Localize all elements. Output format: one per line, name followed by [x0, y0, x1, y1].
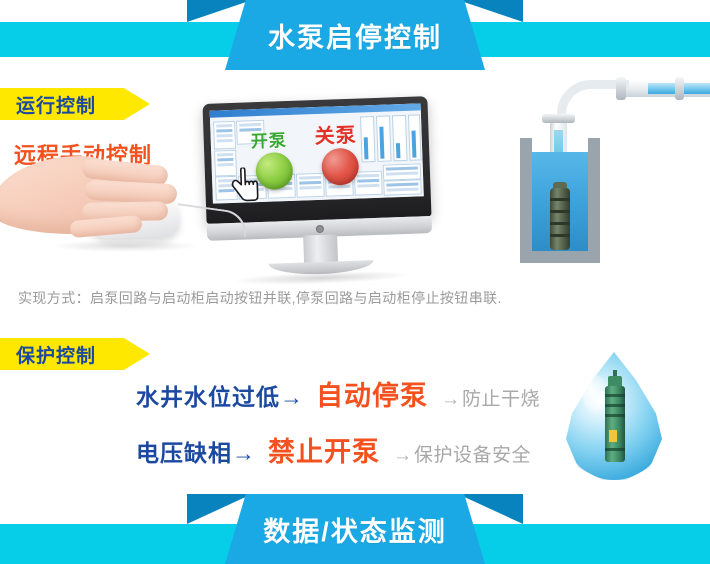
well-wall-left: [520, 138, 532, 263]
bottom-banner: 数据/状态监测: [0, 494, 710, 564]
rule-action: 禁止开泵: [268, 430, 380, 469]
rule-arrow-icon: →: [280, 384, 303, 411]
stop-pump-label: 关泵: [314, 119, 357, 149]
pipe-flange: [675, 77, 684, 100]
pump-ring: [605, 414, 625, 417]
hand-shadow: [50, 240, 200, 252]
top-banner-title: 水泵启停控制: [225, 0, 485, 70]
well-shaft: [520, 138, 600, 263]
pump-ring: [605, 448, 625, 451]
well-wall-bottom: [520, 251, 600, 263]
monitor-bezel: 开泵 关泵: [202, 96, 431, 224]
water-drop-illustration: [556, 348, 676, 488]
monitor-shadow: [231, 269, 411, 287]
scada-gauge: [376, 115, 392, 161]
well-pump-illustration: [500, 72, 700, 277]
protection-rule-row: 水井水位过低 → 自动停泵 → 防止干烧: [136, 374, 540, 413]
rule-arrow-icon: →: [393, 445, 412, 467]
rule-condition: 水井水位过低: [136, 378, 280, 412]
pump-nameplate: [609, 430, 617, 442]
submersible-pump-body: [550, 188, 570, 250]
scada-ui: 开泵 关泵: [210, 103, 424, 203]
well-wall-right: [588, 138, 600, 263]
implementation-note: 实现方式：启泵回路与启动柜启动按钮并联,停泵回路与启动柜停止按钮串联.: [18, 288, 658, 308]
rule-reason: 防止干烧: [462, 384, 540, 411]
start-pump-label: 开泵: [250, 126, 287, 152]
protection-rule-row: 电压缺相 → 禁止开泵 → 保护设备安全: [136, 430, 531, 469]
pump-ring: [605, 394, 625, 397]
monitor-power-indicator-icon: [315, 224, 323, 232]
infographic-page: 水泵启停控制 运行控制 远程手动控制: [0, 0, 710, 564]
scada-tile: [296, 173, 325, 198]
rule-condition: 电压缺相: [136, 434, 232, 468]
hand-on-mouse-illustration: [0, 148, 205, 258]
bottom-banner-ribbon: 数据/状态监测: [225, 494, 485, 564]
pipe-flange: [542, 114, 575, 123]
desk-scene: 开泵 关泵: [0, 78, 470, 278]
scada-gauge: [408, 114, 422, 160]
scada-gauge: [392, 115, 408, 161]
rule-arrow-icon: →: [232, 440, 255, 467]
top-banner-ribbon: 水泵启停控制: [225, 0, 485, 70]
top-banner: 水泵启停控制: [0, 0, 710, 70]
pump-ring: [605, 404, 625, 407]
discharge-pipe-horizontal: [620, 80, 710, 97]
bottom-banner-title: 数据/状态监测: [225, 494, 485, 564]
rule-arrow-icon: →: [441, 389, 460, 411]
monitor-screen: 开泵 关泵: [210, 103, 424, 203]
rule-reason: 保护设备安全: [414, 440, 531, 467]
scada-tile: [354, 171, 383, 196]
hand-cursor-icon: [230, 167, 261, 202]
rule-action: 自动停泵: [316, 374, 428, 413]
scada-tile: [383, 179, 422, 195]
protection-control-tag-label: 保护控制: [16, 341, 96, 368]
pipe-flange: [616, 77, 626, 100]
scada-tile: [383, 163, 422, 180]
scada-tile: [213, 121, 236, 150]
drop-pump-body: [605, 386, 625, 462]
protection-control-tag: 保护控制: [0, 338, 150, 370]
scada-gauge: [360, 116, 376, 162]
